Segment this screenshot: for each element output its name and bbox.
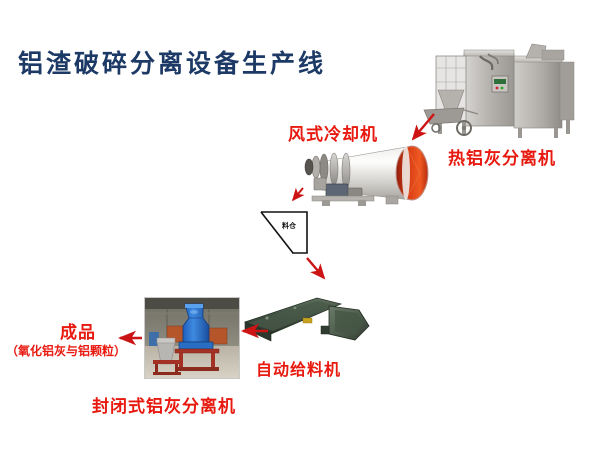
cooler-illustration [300,138,440,218]
cooler-label: 风式冷却机 [288,120,378,145]
product-label: 成品 [60,318,96,343]
arrow-bin-to-feeder [307,258,324,278]
auto-feeder-label: 自动给料机 [256,356,341,380]
hot-separator-label: 热铝灰分离机 [448,144,556,169]
auto-feeder-illustration [243,292,375,348]
closed-separator-image [144,297,240,379]
material-bin-label: 料仓 [282,221,296,231]
closed-separator-label: 封闭式铝灰分离机 [92,392,236,417]
auto-feeder-image [243,292,375,348]
page-title: 铝渣破碎分离设备生产线 [18,44,326,80]
process-flow-diagram: 铝渣破碎分离设备生产线 [0,0,600,450]
hot-separator-image [422,28,594,140]
hot-separator-illustration [422,28,594,140]
closed-separator-illustration [145,298,239,378]
cooler-image [300,138,440,218]
product-detail-label: （氧化铝灰与铝颗粒） [6,342,126,359]
